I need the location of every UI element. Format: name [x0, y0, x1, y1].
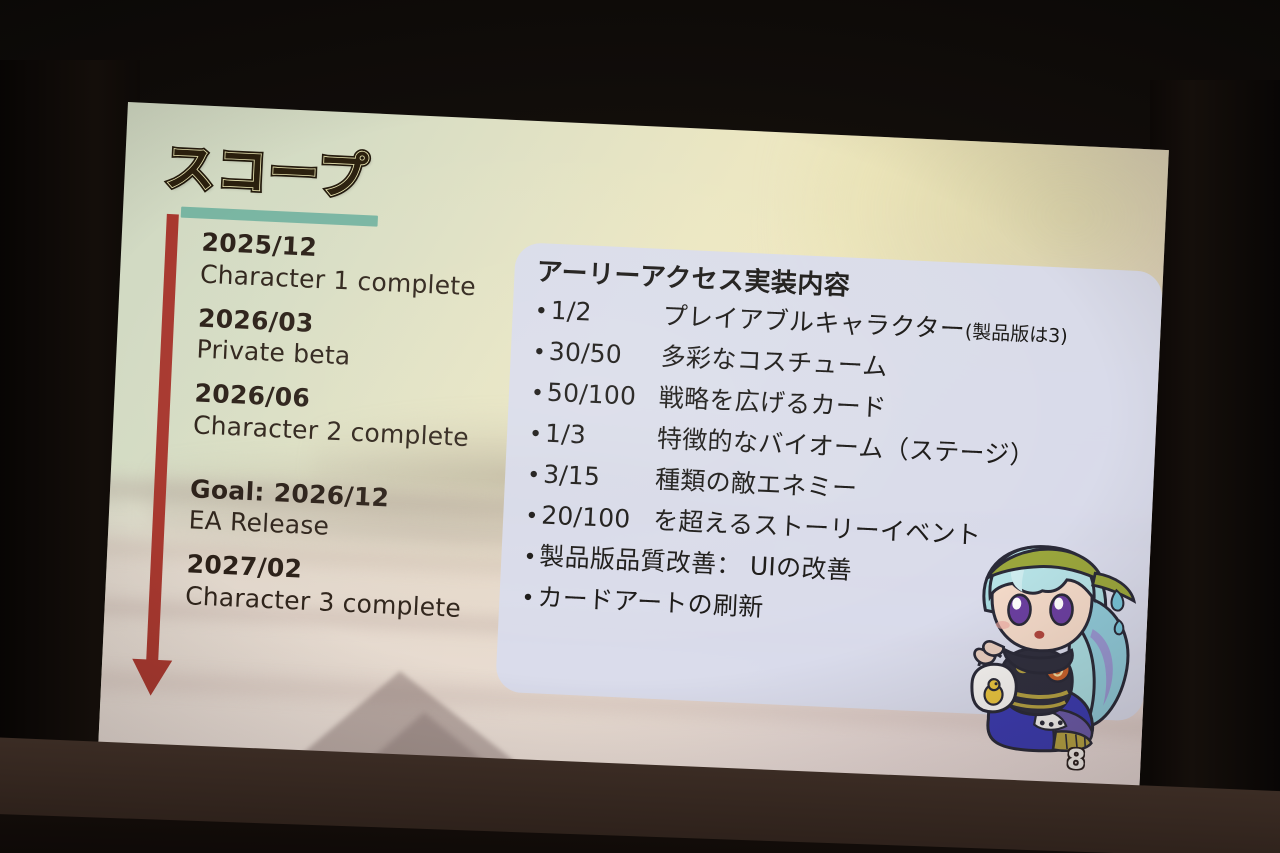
feature-text: 戦略を広げるカード: [658, 385, 887, 421]
page-title: スコープ: [164, 128, 372, 209]
bullet-icon: •: [525, 506, 542, 529]
feature-text: を超えるストーリーイベント: [653, 508, 982, 548]
feature-note: (製品版は3): [964, 321, 1068, 348]
bullet-icon: •: [521, 588, 538, 611]
projection-screen: スコープ スコープ 2025/12 Character 1 complete 2…: [98, 102, 1169, 797]
feature-text: 製品版品質改善： UIの改善: [539, 544, 853, 583]
bullet-icon: •: [523, 547, 540, 570]
feature-ratio: 3/15: [543, 462, 656, 492]
wall-right: [1150, 80, 1280, 853]
chibi-character-illustration: [926, 530, 1152, 780]
bullet-icon: •: [534, 301, 551, 324]
feature-text: 特徴的なバイオーム（ステージ）: [656, 426, 1035, 468]
feature-ratio: 50/100: [546, 380, 659, 410]
page-number: 8: [1066, 744, 1086, 776]
feature-ratio: 30/50: [548, 339, 661, 369]
feature-text: 多彩なコスチューム: [660, 344, 888, 379]
slide: スコープ スコープ 2025/12 Character 1 complete 2…: [98, 102, 1169, 797]
bullet-icon: •: [530, 383, 547, 406]
feature-ratio: 1/3: [545, 421, 658, 451]
feature-ratio: 1/2: [550, 298, 663, 328]
feature-text: カードアートの刷新: [537, 584, 764, 619]
teal-accent-bar: [181, 207, 378, 227]
bullet-icon: •: [532, 342, 549, 365]
bullet-icon: •: [527, 465, 544, 488]
feature-text: 種類の敵エネミー: [655, 467, 858, 501]
feature-ratio: 20/100: [541, 503, 654, 533]
bullet-icon: •: [529, 424, 546, 447]
screenshot-root: スコープ スコープ 2025/12 Character 1 complete 2…: [0, 0, 1280, 853]
feature-label: プレイアブルキャラクター: [662, 301, 966, 344]
timeline-arrow-head: [131, 659, 173, 697]
